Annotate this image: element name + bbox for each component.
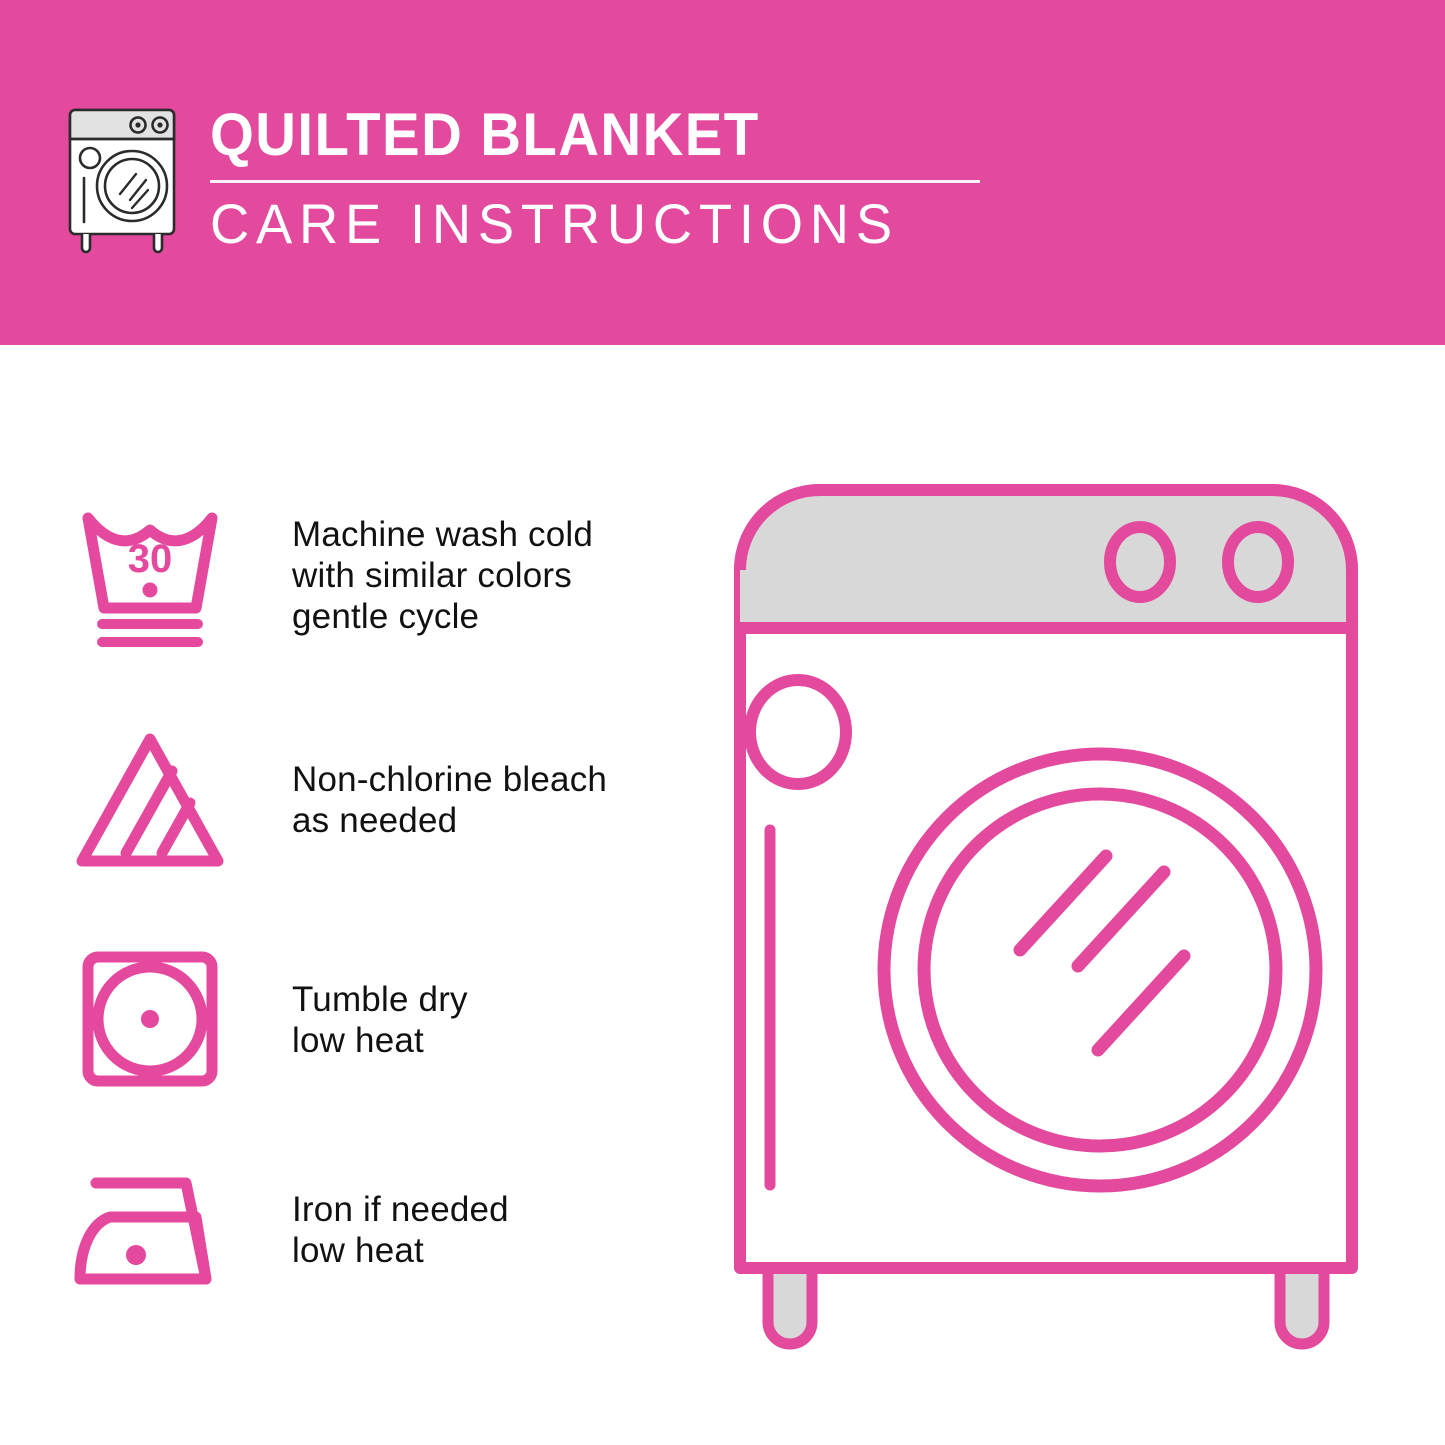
wash-temperature-value: 30	[128, 537, 173, 581]
care-instructions-page: QUILTED BLANKET CARE INSTRUCTIONS 30	[0, 0, 1445, 1445]
page-header: QUILTED BLANKET CARE INSTRUCTIONS	[0, 0, 1445, 345]
care-item-iron: Iron if needed low heat	[70, 1155, 690, 1305]
control-dial-2	[1228, 527, 1288, 597]
control-dial-1	[1110, 527, 1170, 597]
header-content: QUILTED BLANKET CARE INSTRUCTIONS	[60, 98, 980, 254]
door-inner-ring	[924, 794, 1276, 1146]
washing-machine-logo-icon	[60, 104, 188, 254]
care-item-bleach: Non-chlorine bleach as needed	[70, 725, 690, 875]
care-item-label: Machine wash cold with similar colors ge…	[292, 514, 593, 637]
detergent-dispenser-icon	[750, 680, 846, 784]
wash-tub-30-icon: 30	[70, 500, 230, 650]
iron-low-heat-icon	[70, 1155, 230, 1305]
header-title-block: QUILTED BLANKET CARE INSTRUCTIONS	[210, 98, 980, 253]
page-subtitle: CARE INSTRUCTIONS	[210, 195, 957, 253]
non-chlorine-bleach-triangle-icon	[70, 725, 230, 875]
care-item-label: Tumble dry low heat	[292, 979, 468, 1061]
title-divider	[210, 180, 980, 183]
care-item-label: Iron if needed low heat	[292, 1189, 509, 1271]
care-item-tumble-dry: Tumble dry low heat	[70, 945, 690, 1095]
care-instructions-list: 30 Machine wash cold with similar colors…	[0, 345, 700, 1445]
page-title: QUILTED BLANKET	[210, 104, 934, 166]
care-item-machine-wash: 30 Machine wash cold with similar colors…	[70, 500, 690, 650]
tumble-dry-low-icon	[70, 945, 230, 1095]
care-item-label: Non-chlorine bleach as needed	[292, 759, 607, 841]
front-load-washing-machine-illustration	[720, 470, 1410, 1370]
